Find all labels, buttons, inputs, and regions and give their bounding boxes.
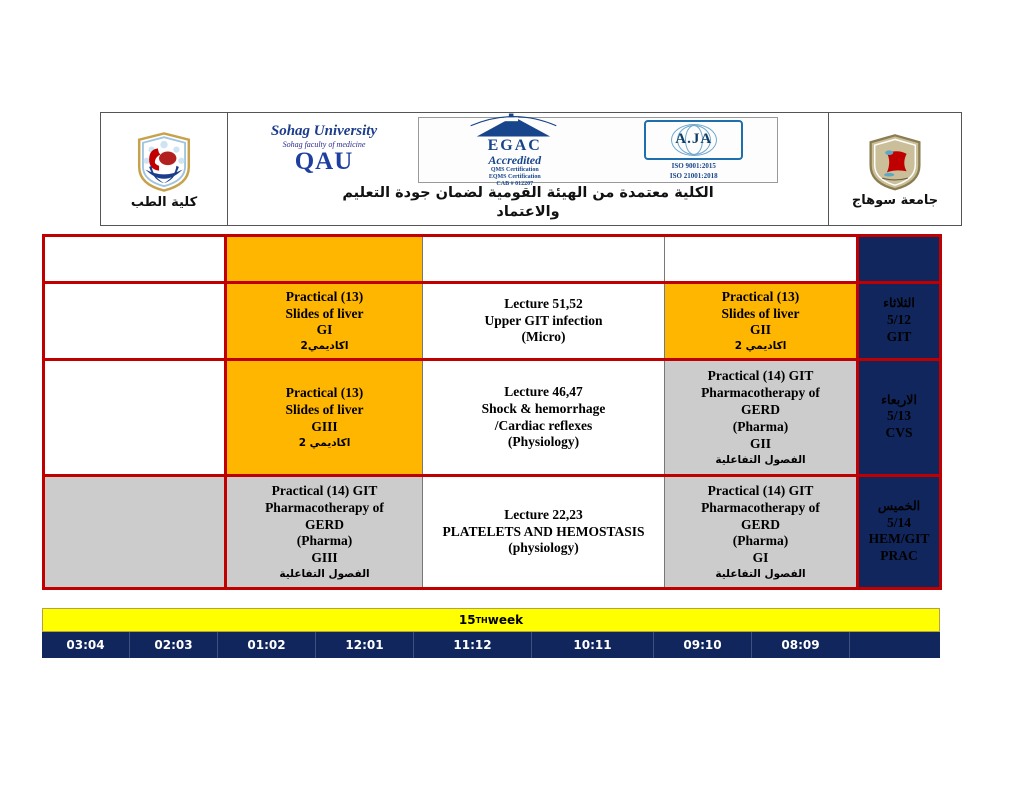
time-slot: 01:02 — [218, 632, 316, 658]
session-line: Slides of liver — [229, 306, 420, 323]
qau-arc-text: Sohag University — [271, 124, 377, 139]
session-cell — [44, 283, 226, 360]
session-venue-arabic: الفصول التفاعلية — [667, 568, 854, 581]
week-number: 15 — [459, 613, 476, 627]
faculty-label: كلية الطب — [131, 195, 197, 210]
session-line: Practical (14) GIT — [667, 483, 854, 500]
session-line: Lecture 51,52 — [425, 296, 662, 313]
session-line: Lecture 22,23 — [425, 507, 662, 524]
session-line: Slides of liver — [667, 306, 854, 323]
session-line: GERD — [667, 517, 854, 534]
faculty-logo-cell: كلية الطب — [101, 113, 228, 225]
session-cell: Practical (14) GIT Pharmacotherapy of GE… — [665, 476, 858, 589]
session-line: Pharmacotherapy of — [667, 385, 854, 402]
session-cell: Lecture 22,23 PLATELETS AND HEMOSTASIS (… — [423, 476, 665, 589]
certification-logos-box: EGAC Accredited QMS Certification EQMS C… — [418, 117, 778, 183]
header-cell-day — [858, 236, 941, 283]
session-line: Practical (13) — [667, 289, 854, 306]
accreditation-statement-line1: الكلية معتمدة من الهيئة القومية لضمان جو… — [230, 184, 826, 202]
day-date: 5/13 — [861, 408, 937, 425]
session-line: GII — [667, 322, 854, 339]
schedule-body: Practical (13) Slides of liver GI اكاديم… — [44, 236, 941, 589]
session-cell — [44, 360, 226, 476]
time-slots-bar: 03:04 02:03 01:02 12:01 11:12 10:11 09:1… — [42, 632, 940, 658]
sohag-university-logo-icon — [865, 133, 925, 191]
table-row: Practical (13) Slides of liver GI اكاديم… — [44, 283, 941, 360]
university-logo-cell: جامعة سوهاج — [829, 113, 961, 225]
egac-logo-icon: EGAC Accredited QMS Certification EQMS C… — [427, 112, 602, 187]
session-cell — [44, 476, 226, 589]
session-venue-arabic: اكاديمي2 — [229, 340, 420, 353]
session-line: Upper GIT infection — [425, 313, 662, 330]
day-module-secondary: PRAC — [861, 548, 937, 565]
aja-iso-line1: ISO 9001:2015 — [672, 162, 716, 170]
session-venue-arabic: الفصول التفاعلية — [667, 454, 854, 467]
day-cell: الخميس 5/14 HEM/GIT PRAC — [858, 476, 941, 589]
day-name-arabic: الاربعاء — [861, 393, 937, 409]
day-date: 5/12 — [861, 312, 937, 329]
session-line: GERD — [229, 517, 420, 534]
week-word: week — [488, 613, 523, 627]
session-line: (Pharma) — [667, 533, 854, 550]
aja-iso-line2: ISO 21001:2018 — [670, 172, 718, 180]
session-cell: Practical (13) Slides of liver GII اكادي… — [665, 283, 858, 360]
session-line: (Micro) — [425, 329, 662, 346]
qau-acronym: QAU — [295, 149, 354, 174]
day-module: CVS — [861, 425, 937, 442]
session-cell: Lecture 46,47 Shock & hemorrhage /Cardia… — [423, 360, 665, 476]
session-cell: Practical (13) Slides of liver GI اكاديم… — [226, 283, 423, 360]
time-slot: 11:12 — [414, 632, 532, 658]
qau-logo-icon: Sohag University Sohag faculty of medici… — [230, 117, 418, 181]
header-cell-2 — [226, 236, 423, 283]
time-slot: 03:04 — [42, 632, 130, 658]
time-slot: 08:09 — [752, 632, 850, 658]
day-name-arabic: الخميس — [861, 499, 937, 515]
table-row: Practical (13) Slides of liver GIII اكاد… — [44, 360, 941, 476]
week-ordinal-suffix: TH — [476, 616, 488, 625]
session-line: Practical (14) GIT — [667, 368, 854, 385]
session-venue-arabic: الفصول التفاعلية — [229, 568, 420, 581]
week-label-bar: 15TH week — [42, 608, 940, 632]
time-slot: 12:01 — [316, 632, 414, 658]
day-module: GIT — [861, 329, 937, 346]
session-line: Practical (14) GIT — [229, 483, 420, 500]
session-venue-arabic: اكاديمي 2 — [667, 340, 854, 353]
session-line: PLATELETS AND HEMOSTASIS — [425, 524, 662, 541]
session-line: GII — [667, 436, 854, 453]
session-cell: Practical (14) GIT Pharmacotherapy of GE… — [226, 476, 423, 589]
schedule-header-row — [44, 236, 941, 283]
session-line: GIII — [229, 419, 420, 436]
egac-title: EGAC — [488, 138, 542, 154]
egac-accredited-text: Accredited — [488, 154, 541, 167]
day-module: HEM/GIT — [861, 531, 937, 548]
header-cell-4 — [665, 236, 858, 283]
session-line: (Pharma) — [229, 533, 420, 550]
session-venue-arabic: اكاديمي 2 — [229, 437, 420, 450]
day-date: 5/14 — [861, 515, 937, 532]
session-line: Slides of liver — [229, 402, 420, 419]
day-name-arabic: الثلاثاء — [861, 296, 937, 312]
session-line: Pharmacotherapy of — [229, 500, 420, 517]
session-line: /Cardiac reflexes — [425, 418, 662, 435]
session-line: Pharmacotherapy of — [667, 500, 854, 517]
session-line: (Physiology) — [425, 434, 662, 451]
egac-eqms-line: EQMS Certification — [489, 174, 541, 181]
session-line: Shock & hemorrhage — [425, 401, 662, 418]
accreditation-cell: Sohag University Sohag faculty of medici… — [228, 113, 829, 225]
faculty-of-medicine-logo-icon — [133, 131, 195, 193]
university-label: جامعة سوهاج — [852, 193, 938, 208]
time-slot: 09:10 — [654, 632, 752, 658]
session-cell: Practical (13) Slides of liver GIII اكاد… — [226, 360, 423, 476]
session-line: Practical (13) — [229, 289, 420, 306]
session-line: GIII — [229, 550, 420, 567]
time-slot: 10:11 — [532, 632, 654, 658]
accreditation-header-banner: كلية الطب Sohag University Sohag faculty… — [100, 112, 962, 226]
session-line: (Pharma) — [667, 419, 854, 436]
table-row: Practical (14) GIT Pharmacotherapy of GE… — [44, 476, 941, 589]
header-cell-1 — [44, 236, 226, 283]
header-cell-3 — [423, 236, 665, 283]
session-line: GI — [229, 322, 420, 339]
aja-text: A.JA — [675, 131, 712, 148]
session-line: GI — [667, 550, 854, 567]
day-cell: الاربعاء 5/13 CVS — [858, 360, 941, 476]
aja-logo-icon: A.JA ISO 9001:2015 ISO 21001:2018 — [619, 120, 769, 181]
session-cell: Lecture 51,52 Upper GIT infection (Micro… — [423, 283, 665, 360]
accreditation-statement-line2: والاعتماد — [230, 203, 826, 221]
session-line: Practical (13) — [229, 385, 420, 402]
session-cell: Practical (14) GIT Pharmacotherapy of GE… — [665, 360, 858, 476]
time-slot: 02:03 — [130, 632, 218, 658]
session-line: GERD — [667, 402, 854, 419]
aja-badge: A.JA — [644, 120, 743, 160]
day-cell: الثلاثاء 5/12 GIT — [858, 283, 941, 360]
session-line: Lecture 46,47 — [425, 384, 662, 401]
weekly-schedule-table: Practical (13) Slides of liver GI اكاديم… — [42, 234, 942, 590]
session-line: (physiology) — [425, 540, 662, 557]
egac-qms-line: QMS Certification — [491, 167, 539, 174]
time-slot-empty — [850, 632, 940, 658]
accreditation-logos-row: Sohag University Sohag faculty of medici… — [230, 117, 826, 183]
